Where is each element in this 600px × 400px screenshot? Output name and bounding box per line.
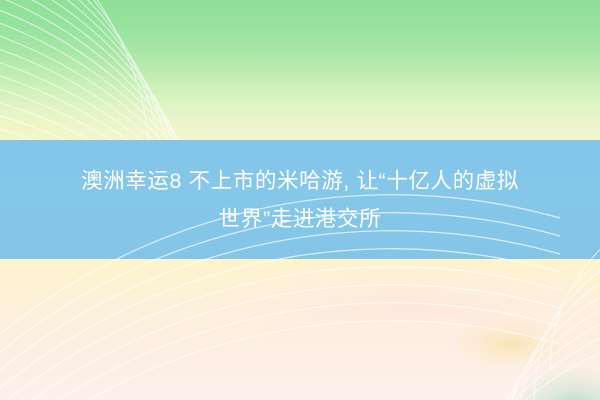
headline: 澳洲幸运8 不上市的米哈游, 让“十亿人的虚拟 世界”走进港交所 <box>0 140 600 260</box>
banner-canvas: 澳洲幸运8 不上市的米哈游, 让“十亿人的虚拟 世界”走进港交所 <box>0 0 600 400</box>
headline-line-2: 世界”走进港交所 <box>219 200 381 238</box>
headline-line-1: 澳洲幸运8 不上市的米哈游, 让“十亿人的虚拟 <box>81 162 519 200</box>
